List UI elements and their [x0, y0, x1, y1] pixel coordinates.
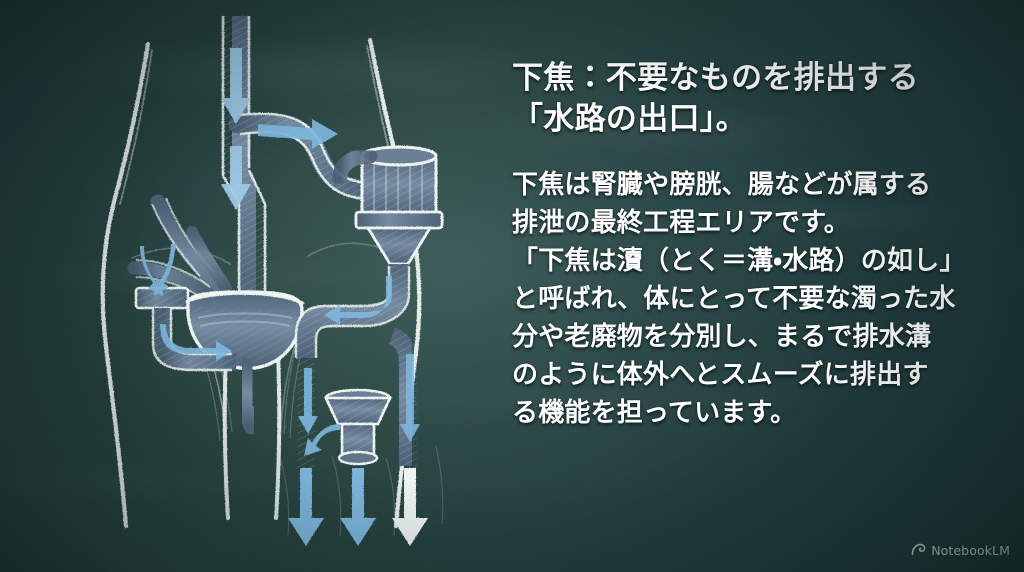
watermark-label: NotebookLM	[931, 543, 1010, 558]
notebooklm-watermark: NotebookLM	[911, 541, 1010, 560]
headline: 下焦：不要なものを排出する 「水路の出口」。	[512, 58, 990, 140]
main-vertical-pipe	[223, 16, 265, 306]
right-upper-canister	[356, 147, 442, 264]
bladder-outflow-stem	[236, 366, 254, 426]
slide-canvas: 下焦：不要なものを排出する 「水路の出口」。 下焦は腎臓や膀胱、腸などが属する …	[0, 0, 1024, 572]
outflow-arrows	[288, 468, 428, 546]
outflow-arrow-2	[340, 468, 376, 546]
notebooklm-icon	[911, 541, 926, 560]
illustration-lower-abdomen	[40, 6, 480, 566]
text-column: 下焦：不要なものを排出する 「水路の出口」。 下焦は腎臓や膀胱、腸などが属する …	[512, 58, 990, 432]
right-descending-pipe	[392, 336, 420, 468]
body-paragraph: 下焦は腎臓や膀胱、腸などが属する 排泄の最終工程エリアです。 「下焦は瀆（とく＝…	[512, 140, 990, 433]
outflow-arrow-1	[288, 468, 324, 546]
